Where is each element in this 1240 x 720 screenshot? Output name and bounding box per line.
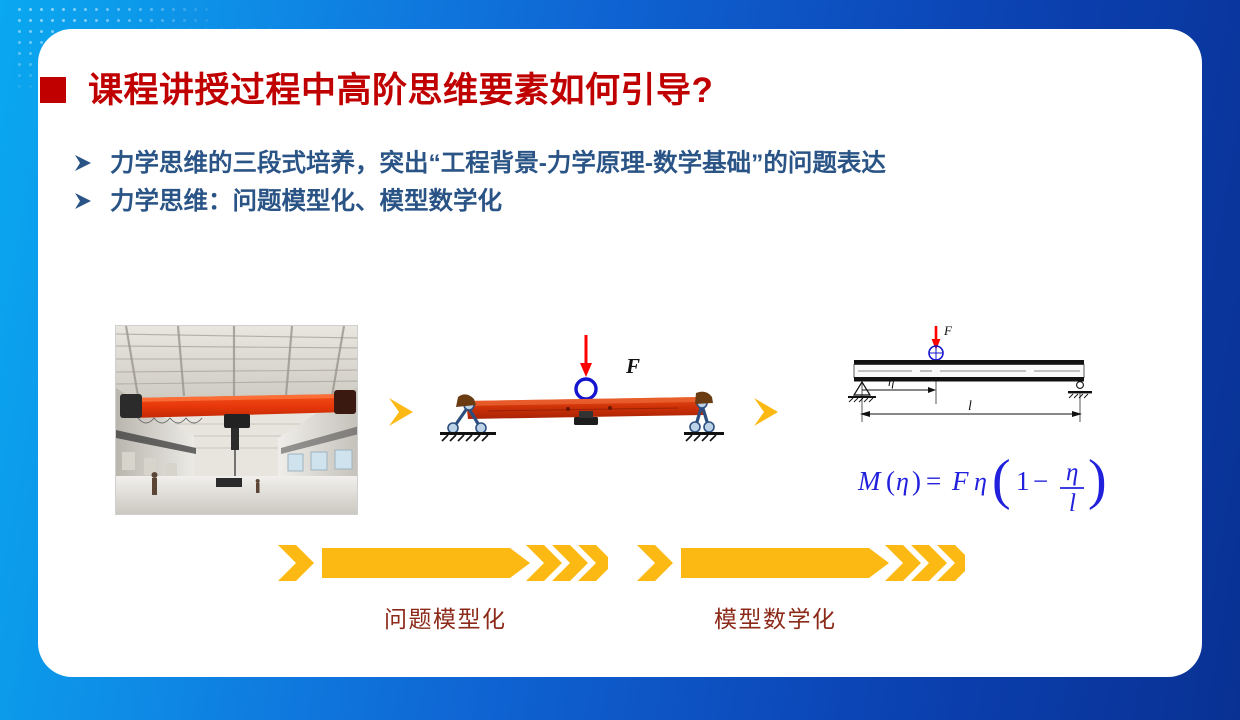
svg-text:η: η <box>1066 459 1078 486</box>
bending-moment-formula: M ( η ) = F η ( 1 − η l ) <box>848 448 1148 518</box>
svg-text:=: = <box>926 466 941 496</box>
bullet-item-1-text: 力学思维的三段式培养，突出“工程背景-力学原理-数学基础”的问题表达 <box>110 148 886 180</box>
arrowhead-bullet-icon <box>72 190 94 220</box>
arrowhead-bullet-icon <box>72 152 94 182</box>
svg-text:F: F <box>625 354 640 378</box>
workshop-overhead-crane-photo <box>115 325 358 515</box>
process-arrow-row <box>0 540 1240 588</box>
svg-text:η: η <box>974 467 987 496</box>
simply-supported-beam-schematic: F <box>840 322 1132 434</box>
bullet-list: 力学思维的三段式培养，突出“工程背景-力学原理-数学基础”的问题表达 力学思维：… <box>72 148 1142 225</box>
svg-text:): ) <box>912 466 921 496</box>
red-square-bullet-icon <box>40 77 66 103</box>
bullet-item-2: 力学思维：问题模型化、模型数学化 <box>72 186 1142 218</box>
svg-text:(: ( <box>992 449 1011 511</box>
yellow-block-arrow-icon <box>637 540 965 586</box>
process-caption-2: 模型数学化 <box>714 600 837 634</box>
page-title-text: 课程讲授过程中高阶思维要素如何引导? <box>88 62 713 113</box>
svg-text:−: − <box>1033 466 1048 496</box>
bullet-item-2-text: 力学思维：问题模型化、模型数学化 <box>110 186 502 218</box>
slide-root: 课程讲授过程中高阶思维要素如何引导? 力学思维的三段式培养，突出“工程背景-力学… <box>0 0 1240 720</box>
svg-text:F: F <box>951 466 969 496</box>
process-caption-1: 问题模型化 <box>384 600 507 634</box>
svg-text:): ) <box>1088 449 1107 511</box>
svg-text:(: ( <box>886 466 895 496</box>
page-title: 课程讲授过程中高阶思维要素如何引导? <box>40 62 713 113</box>
bullet-item-1: 力学思维的三段式培养，突出“工程背景-力学原理-数学基础”的问题表达 <box>72 148 1142 180</box>
crane-beam-free-body-diagram: F <box>428 325 736 450</box>
yellow-block-arrow-icon <box>278 540 608 586</box>
process-caption-row: 问题模型化 模型数学化 <box>0 600 1240 640</box>
visual-row: F <box>0 320 1240 530</box>
svg-text:η: η <box>896 467 909 496</box>
svg-text:l: l <box>1069 490 1076 517</box>
svg-text:F: F <box>943 323 953 338</box>
yellow-chevron-icon <box>383 390 427 434</box>
yellow-chevron-icon <box>748 390 792 434</box>
svg-text:M: M <box>857 466 882 496</box>
svg-text:l: l <box>968 399 972 414</box>
svg-text:1: 1 <box>1016 466 1030 496</box>
svg-text:η: η <box>888 374 894 389</box>
